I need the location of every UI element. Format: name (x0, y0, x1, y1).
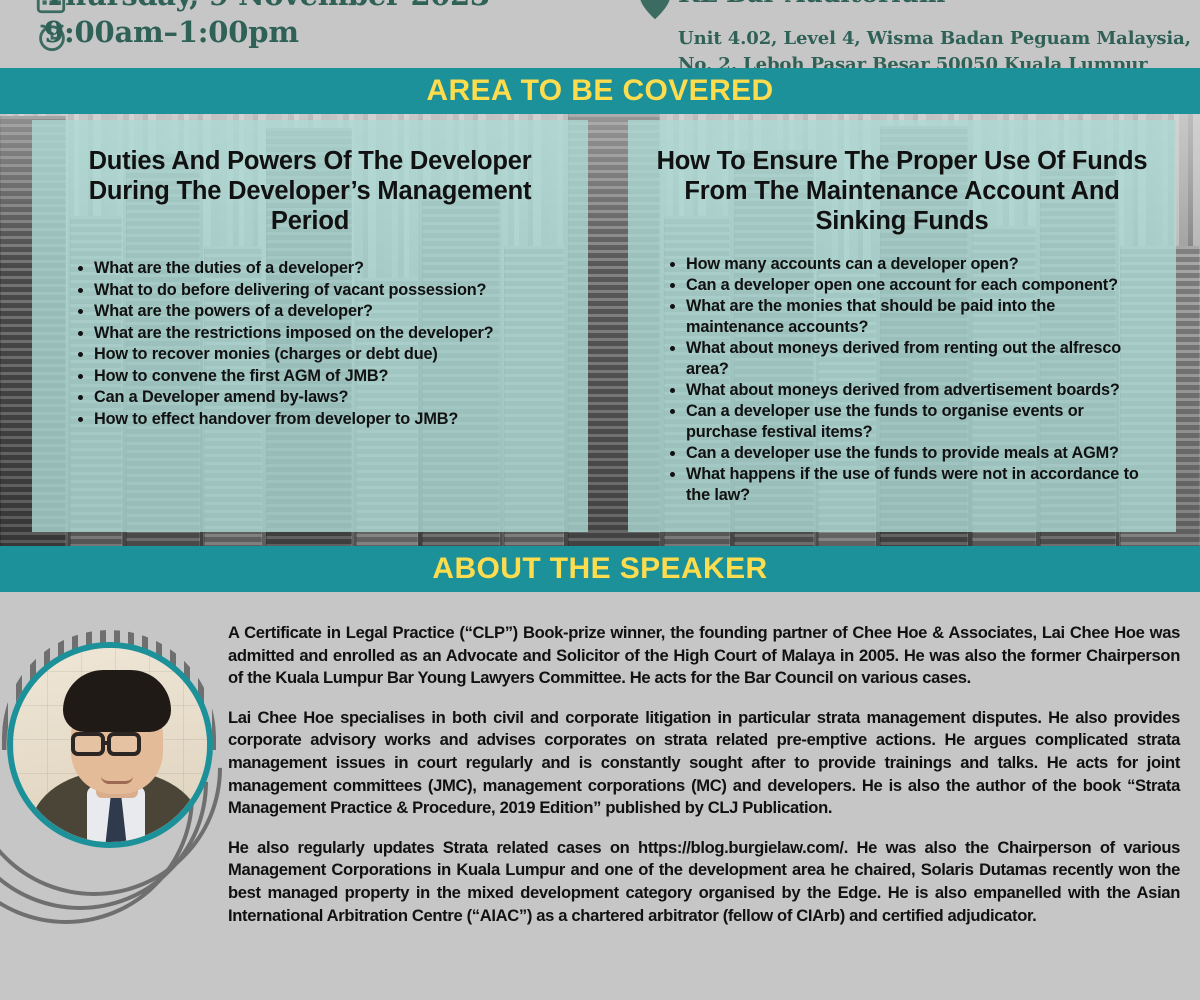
speaker-section: A Certificate in Legal Practice (“CLP”) … (0, 592, 1200, 1000)
about-speaker-banner: ABOUT THE SPEAKER (0, 546, 1200, 592)
event-header: Thursday, 9 November 2023 9:00am–1:00pm … (0, 0, 1200, 68)
list-item: How to convene the first AGM of JMB? (94, 366, 566, 388)
event-address-line1: Unit 4.02, Level 4, Wisma Badan Peguam M… (678, 26, 1200, 52)
speaker-bio-paragraph: He also regularly updates Strata related… (228, 837, 1180, 927)
topic-panel-right: How To Ensure The Proper Use Of Funds Fr… (628, 120, 1176, 532)
event-venue: KL Bar Auditorium (678, 0, 1200, 7)
list-item: How to effect handover from developer to… (94, 409, 566, 431)
topic-panel-right-list: How many accounts can a developer open? … (650, 254, 1154, 506)
topic-panel-right-title: How To Ensure The Proper Use Of Funds Fr… (650, 146, 1154, 236)
event-time: 9:00am–1:00pm (44, 16, 598, 48)
list-item: Can a developer use the funds to provide… (686, 443, 1154, 464)
topic-panel-left-list: What are the duties of a developer? What… (54, 258, 566, 430)
list-item: Can a Developer amend by-laws? (94, 387, 566, 409)
list-item: What about moneys derived from renting o… (686, 338, 1154, 380)
avatar (7, 642, 213, 848)
list-item: Can a developer use the funds to organis… (686, 401, 1154, 443)
list-item: What about moneys derived from advertise… (686, 380, 1154, 401)
list-item: What happens if the use of funds were no… (686, 464, 1154, 506)
speaker-bio: A Certificate in Legal Practice (“CLP”) … (228, 622, 1180, 927)
list-item: What are the restrictions imposed on the… (94, 323, 566, 345)
list-item: What are the monies that should be paid … (686, 296, 1154, 338)
speaker-portrait-frame (0, 644, 240, 944)
topic-panel-left-title: Duties And Powers Of The Developer Durin… (54, 146, 566, 236)
list-item: What are the powers of a developer? (94, 301, 566, 323)
speaker-photo (13, 648, 207, 842)
header-venue-col: KL Bar Auditorium Unit 4.02, Level 4, Wi… (598, 0, 1200, 68)
about-speaker-banner-label: ABOUT THE SPEAKER (432, 552, 767, 586)
topic-panel-left: Duties And Powers Of The Developer Durin… (32, 120, 588, 532)
list-item: What are the duties of a developer? (94, 258, 566, 280)
list-item: How to recover monies (charges or debt d… (94, 344, 566, 366)
area-covered-banner: AREA TO BE COVERED (0, 68, 1200, 114)
list-item: What to do before delivering of vacant p… (94, 280, 566, 302)
area-covered-banner-label: AREA TO BE COVERED (426, 74, 773, 108)
event-date: Thursday, 9 November 2023 (44, 0, 598, 10)
list-item: Can a developer open one account for eac… (686, 275, 1154, 296)
speaker-bio-paragraph: Lai Chee Hoe specialises in both civil a… (228, 707, 1180, 820)
speaker-bio-paragraph: A Certificate in Legal Practice (“CLP”) … (228, 622, 1180, 690)
header-datetime-col: Thursday, 9 November 2023 9:00am–1:00pm (0, 0, 598, 68)
list-item: How many accounts can a developer open? (686, 254, 1154, 275)
